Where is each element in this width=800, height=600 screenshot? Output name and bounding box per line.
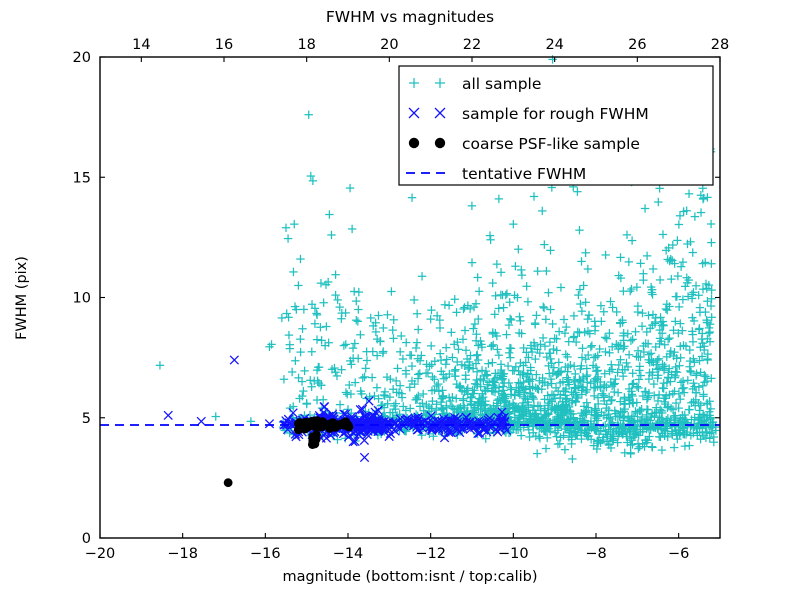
legend-item-label: coarse PSF-like sample	[462, 135, 640, 153]
x-tick-label: −10	[498, 546, 529, 562]
scatter-plot: FWHM vs magnitudes magnitude (bottom:isn…	[0, 0, 800, 600]
y-tick-label: 15	[73, 170, 91, 186]
x-tick-label: −18	[167, 546, 198, 562]
data-point-dot	[317, 421, 326, 430]
x-tick-label-top: 18	[297, 37, 315, 53]
legend-item-label: tentative FWHM	[462, 165, 586, 183]
x-tick-label: −20	[85, 546, 116, 562]
y-axis-title: FWHM (pix)	[14, 256, 30, 340]
x-tick-label-top: 26	[628, 37, 646, 53]
x-tick-label-top: 22	[463, 37, 481, 53]
x-tick-label: −16	[250, 546, 281, 562]
y-tick-label: 5	[82, 411, 91, 427]
y-tick-label: 20	[73, 50, 91, 66]
data-point-dot	[303, 419, 312, 428]
x-tick-label: −8	[585, 546, 606, 562]
x-tick-label-top: 24	[545, 37, 563, 53]
x-tick-label: −12	[415, 546, 446, 562]
data-point-dot	[409, 138, 419, 148]
data-point-dot	[224, 478, 233, 487]
x-tick-label-top: 16	[215, 37, 233, 53]
x-tick-label-top: 20	[380, 37, 398, 53]
legend[interactable]: all samplesample for rough FWHMcoarse PS…	[399, 66, 713, 185]
data-point-dot	[309, 438, 318, 447]
y-tick-label: 10	[73, 291, 91, 307]
legend-item-label: sample for rough FWHM	[462, 105, 649, 123]
x-tick-label-top: 14	[132, 37, 150, 53]
legend-item-label: all sample	[462, 75, 541, 93]
x-axis-title: magnitude (bottom:isnt / top:calib)	[282, 569, 537, 585]
x-tick-label-top: 28	[711, 37, 729, 53]
y-tick-label: 0	[82, 531, 91, 547]
data-point-dot	[312, 430, 321, 439]
figure-canvas: FWHM vs magnitudes magnitude (bottom:isn…	[0, 0, 800, 600]
data-point-dot	[344, 422, 353, 431]
data-point-dot	[435, 138, 445, 148]
x-tick-label: −6	[668, 546, 689, 562]
x-tick-label: −14	[333, 546, 364, 562]
chart-title: FWHM vs magnitudes	[326, 8, 494, 26]
